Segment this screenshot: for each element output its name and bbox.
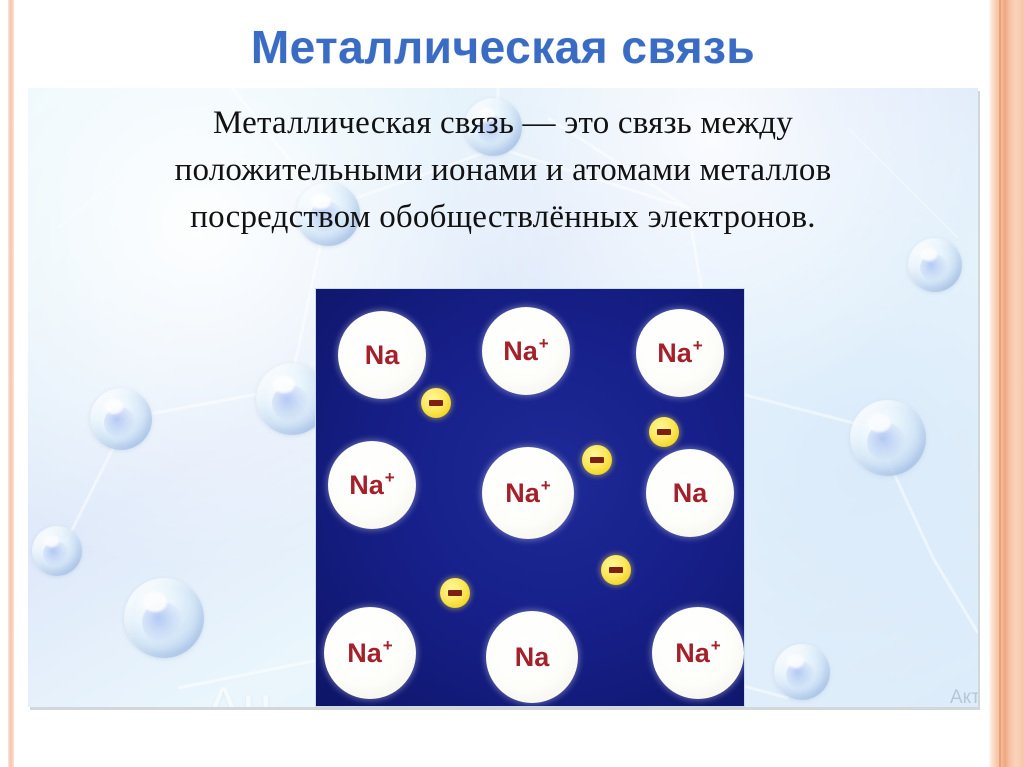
- sodium-ion: Na+: [324, 607, 416, 699]
- definition-line-1: Металлическая связь — это связь между: [68, 100, 938, 147]
- background-molecule-node: [124, 578, 204, 658]
- sodium-ion: Na+: [328, 441, 416, 529]
- definition-line-2: положительными ионами и атомами металлов: [68, 147, 938, 194]
- definition-paragraph: Металлическая связь — это связь между по…: [68, 100, 938, 241]
- sodium-ion: Na+: [652, 607, 744, 699]
- ion-charge-superscript: +: [539, 335, 549, 352]
- background-molecule-node: [850, 400, 926, 476]
- free-electron: [649, 417, 679, 447]
- ion-charge-superscript: +: [541, 477, 551, 494]
- slide-content-area: Au Металлическая связь — это связь между…: [28, 88, 978, 707]
- ion-label: Na: [365, 342, 400, 369]
- ion-label: Na: [673, 480, 708, 507]
- minus-sign-icon: [448, 590, 462, 596]
- ion-charge-superscript: +: [711, 637, 721, 654]
- ion-label: Na: [505, 480, 540, 507]
- background-molecule-node: [774, 644, 830, 700]
- ion-label: Na: [503, 338, 538, 365]
- background-molecule-node: [90, 388, 152, 450]
- sodium-ion: Na: [486, 611, 578, 703]
- page-title: Металлическая связь: [251, 21, 755, 73]
- ion-label: Na: [515, 644, 550, 671]
- slide-frame: Металлическая связь: [0, 0, 1024, 767]
- title-bar: Металлическая связь: [28, 12, 978, 82]
- ion-label: Na: [349, 472, 384, 499]
- ion-charge-superscript: +: [385, 469, 395, 486]
- sodium-ion: Na: [338, 311, 426, 399]
- metallic-bond-diagram: NaNa+Na+Na+Na+NaNa+NaNa+: [315, 288, 745, 707]
- minus-sign-icon: [657, 429, 671, 435]
- ion-label: Na: [675, 640, 710, 667]
- minus-sign-icon: [429, 400, 443, 406]
- background-element-symbol: Au: [206, 676, 274, 707]
- ion-charge-superscript: +: [383, 637, 393, 654]
- sodium-ion: Na+: [482, 307, 570, 395]
- sodium-ion: Na: [646, 449, 734, 537]
- ion-label: Na: [347, 640, 382, 667]
- definition-line-3: посредством обобществлённых электронов.: [68, 194, 938, 241]
- sodium-ion: Na+: [636, 309, 724, 397]
- free-electron: [421, 388, 451, 418]
- left-decorative-strip: [8, 0, 14, 767]
- background-molecule-node: [32, 526, 82, 576]
- free-electron: [582, 445, 612, 475]
- ion-charge-superscript: +: [693, 337, 703, 354]
- minus-sign-icon: [609, 567, 623, 573]
- free-electron: [601, 555, 631, 585]
- right-decorative-strip: [989, 0, 1024, 767]
- free-electron: [440, 578, 470, 608]
- sodium-ion: Na+: [482, 447, 574, 539]
- watermark-line-1: Акти: [950, 686, 978, 707]
- minus-sign-icon: [590, 457, 604, 463]
- windows-activation-watermark: Акти Чтоб разде: [950, 686, 978, 707]
- background-molecule-node: [908, 238, 962, 292]
- ion-label: Na: [657, 340, 692, 367]
